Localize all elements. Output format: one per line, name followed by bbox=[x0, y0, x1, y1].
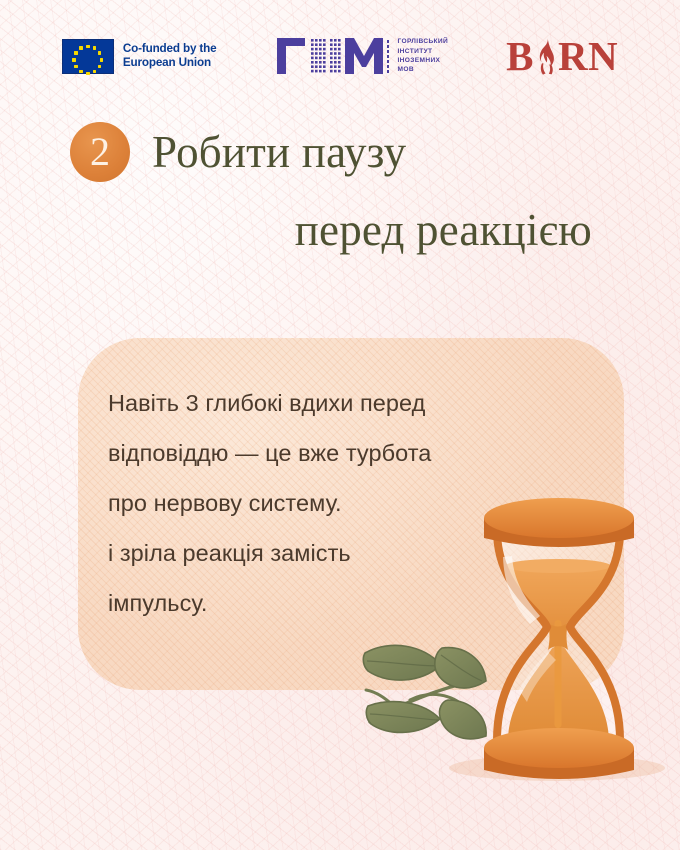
heading-block: 2 Робити паузу перед реакцією bbox=[0, 122, 680, 253]
institute-line4: МОВ bbox=[398, 65, 449, 74]
heading-first-row: 2 Робити паузу bbox=[0, 122, 680, 182]
institute-logo-text: ГОРЛІВСЬКИЙ ІНСТИТУТ ІНОЗЕМНИХ МОВ bbox=[398, 37, 449, 74]
body-line-2: відповіддю — це вже турбота bbox=[108, 428, 578, 478]
poster-canvas: Co-funded by the European Union bbox=[0, 0, 680, 850]
eu-logo-line1: Co-funded by the bbox=[123, 42, 217, 56]
heading-line-1: Робити паузу bbox=[152, 130, 406, 175]
giim-wordmark-icon bbox=[275, 34, 391, 78]
institute-line3: ІНОЗЕМНИХ bbox=[398, 56, 449, 65]
heading-line-2: перед реакцією bbox=[0, 208, 680, 253]
burn-logo: B RN bbox=[506, 36, 618, 77]
eu-logo-text: Co-funded by the European Union bbox=[123, 42, 217, 71]
eu-logo-line2: European Union bbox=[123, 56, 217, 70]
institute-logo: ГОРЛІВСЬКИЙ ІНСТИТУТ ІНОЗЕМНИХ МОВ bbox=[275, 34, 449, 78]
body-line-1: Навіть 3 глибокі вдихи перед bbox=[108, 378, 578, 428]
body-line-5: імпульсу. bbox=[108, 578, 578, 628]
body-line-4: і зріла реакція замість bbox=[108, 528, 578, 578]
institute-line2: ІНСТИТУТ bbox=[398, 47, 449, 56]
eu-flag-icon bbox=[62, 39, 114, 74]
body-text: Навіть 3 глибокі вдихи перед відповіддю … bbox=[108, 378, 578, 628]
burn-logo-text-after: RN bbox=[558, 36, 618, 77]
step-number-badge: 2 bbox=[70, 122, 130, 182]
institute-line1: ГОРЛІВСЬКИЙ bbox=[398, 37, 449, 46]
flame-icon bbox=[533, 36, 559, 76]
eu-cofunded-logo: Co-funded by the European Union bbox=[62, 39, 217, 74]
body-line-3: про нервову систему. bbox=[108, 478, 578, 528]
logo-bar: Co-funded by the European Union bbox=[0, 28, 680, 84]
burn-logo-text-before: B bbox=[506, 36, 534, 77]
